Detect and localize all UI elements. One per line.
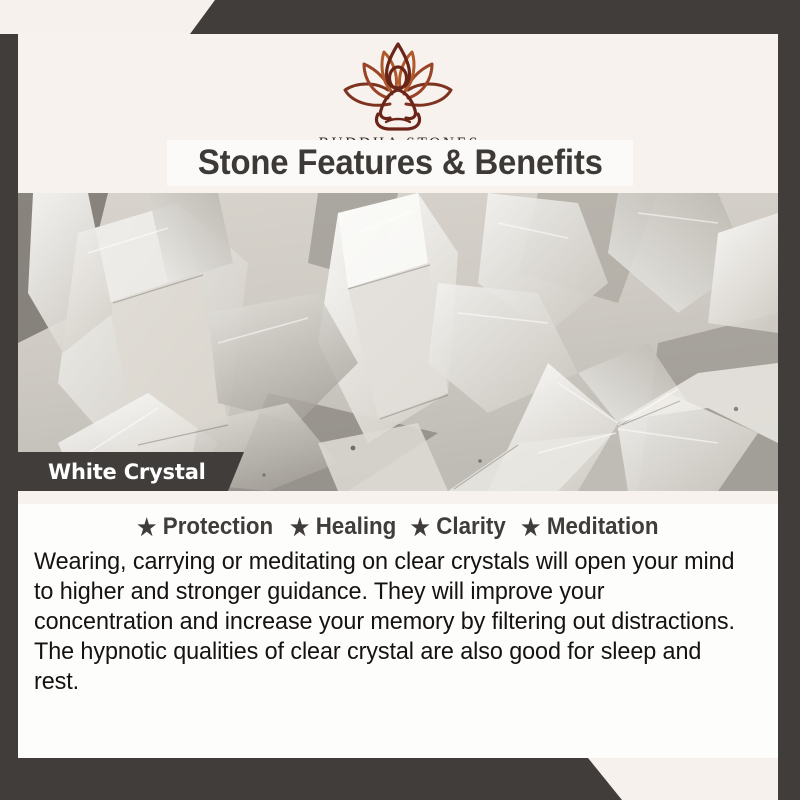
frame-top-bar [0,0,800,34]
benefit-label: Clarity [436,513,505,541]
crystal-cluster-illustration [18,193,778,491]
title-banner: Stone Features & Benefits [167,140,633,186]
benefits-list: ★ Protection ★ Healing ★ Clarity ★ Medit… [18,513,778,541]
benefit-label: Meditation [547,513,659,541]
white-crystal-photo [18,193,778,491]
benefit-item-clarity: ★ Clarity [410,513,505,541]
star-icon: ★ [410,516,429,539]
description-text: Wearing, carrying or meditating on clear… [34,547,743,696]
benefit-item-healing: ★ Healing [290,513,396,541]
photo-caption-banner: White Crystal [18,452,244,491]
benefit-label: Protection [163,513,273,541]
divider-strip [18,491,778,504]
star-icon: ★ [521,516,540,539]
benefit-item-meditation: ★ Meditation [521,513,658,541]
product-info-card: BUDDHA STONES Stone Features & Benefits [0,0,800,800]
stone-name-label: White Crystal [48,460,206,484]
frame-right-bar [778,0,800,800]
star-icon: ★ [137,516,156,539]
benefit-label: Healing [315,513,396,541]
benefit-item-protection: ★ Protection [137,513,273,541]
frame-bottom-bar [0,758,800,800]
page-title: Stone Features & Benefits [198,143,603,183]
lotus-meditation-icon [336,38,460,134]
content-panel: ★ Protection ★ Healing ★ Clarity ★ Medit… [18,504,778,758]
brand-logo: BUDDHA STONES [18,38,778,153]
frame-left-bar [0,34,18,800]
star-icon: ★ [290,516,309,539]
